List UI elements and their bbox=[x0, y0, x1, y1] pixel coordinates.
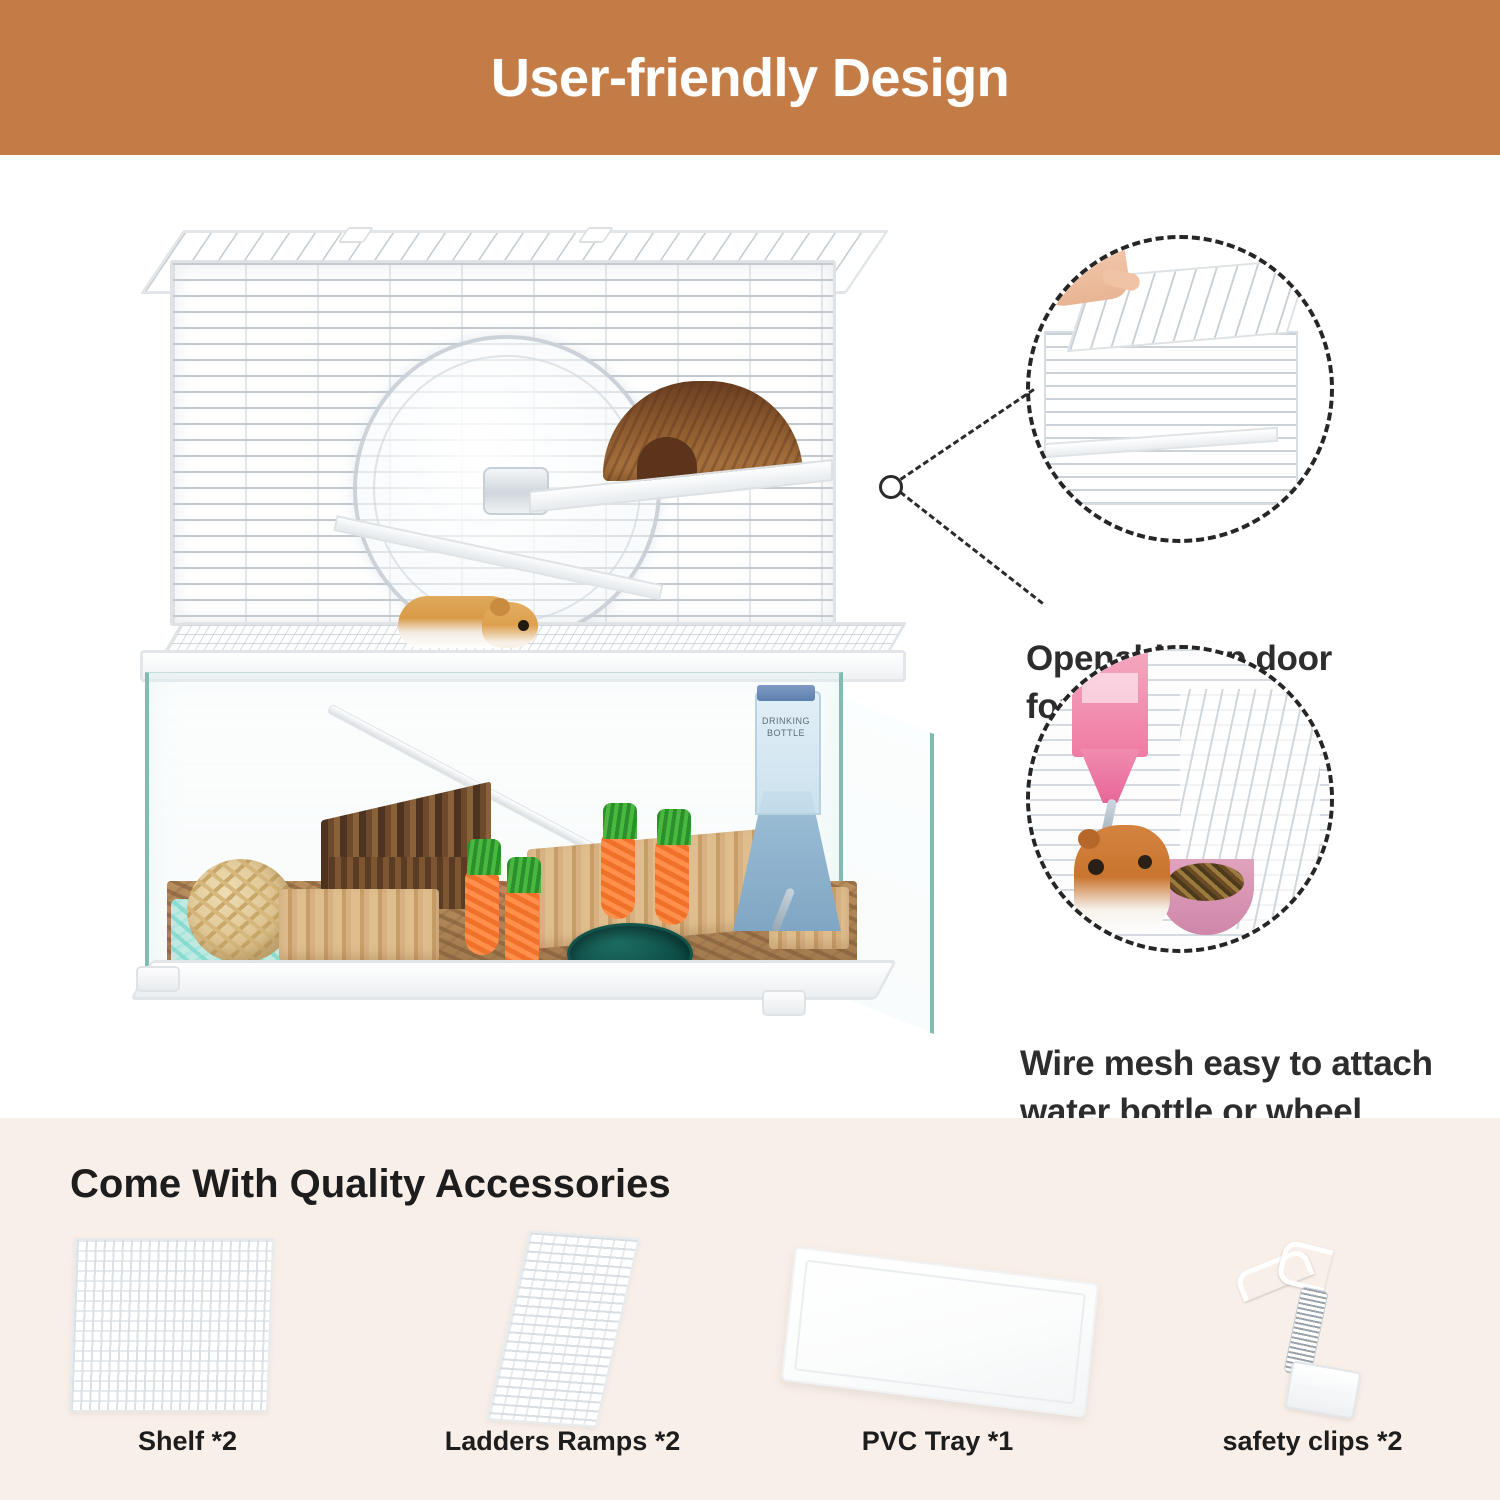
carrot-body bbox=[655, 839, 689, 925]
page-title: User-friendly Design bbox=[491, 47, 1009, 109]
product-image: DRINKING BOTTLE bbox=[120, 220, 920, 1060]
bottle-glass-body bbox=[755, 691, 821, 815]
accessory-label: Ladders Ramps *2 bbox=[375, 1426, 750, 1457]
carrot-toy bbox=[601, 833, 635, 919]
cage-wire-panel bbox=[170, 260, 836, 626]
carrot-toy bbox=[655, 839, 689, 925]
carrot-leaf bbox=[657, 809, 691, 845]
hamster-eye bbox=[1138, 855, 1152, 869]
safety-clip-icon bbox=[1230, 1236, 1400, 1422]
accessory-item-clips: safety clips *2 bbox=[1125, 1230, 1500, 1500]
carrot-toy bbox=[465, 869, 499, 955]
wire-shelf-panel-icon bbox=[69, 1238, 274, 1412]
callout-bubble-top-door bbox=[1026, 235, 1334, 543]
clip-art bbox=[1125, 1230, 1500, 1430]
tank-foot bbox=[762, 990, 806, 1016]
callout-bubble-wire-mesh bbox=[1026, 645, 1334, 953]
bottle-cap bbox=[757, 685, 815, 701]
accessory-label: safety clips *2 bbox=[1125, 1426, 1500, 1457]
lid-clip-icon bbox=[337, 227, 374, 243]
carrot-leaf bbox=[507, 857, 541, 893]
shelf-art bbox=[0, 1230, 375, 1430]
hamster-on-floor bbox=[398, 588, 538, 650]
mini-cage-body bbox=[1044, 331, 1298, 505]
tank-glass-front-panel: DRINKING BOTTLE bbox=[145, 672, 843, 973]
carrot-leaf bbox=[467, 839, 501, 875]
callout-bubble-art bbox=[1030, 649, 1330, 949]
wood-fence-left bbox=[279, 889, 439, 961]
food-mix bbox=[1168, 863, 1244, 901]
callout-line-1: Wire mesh easy to attach bbox=[1020, 1040, 1480, 1088]
callout-bubble-art bbox=[1030, 239, 1330, 539]
accessory-item-ladders: Ladders Ramps *2 bbox=[375, 1230, 750, 1500]
header-banner: User-friendly Design bbox=[0, 0, 1500, 155]
accessories-row: Shelf *2 Ladders Ramps *2 PVC Tray *1 bbox=[0, 1230, 1500, 1500]
accessories-title: Come With Quality Accessories bbox=[70, 1162, 671, 1207]
clip-jaw bbox=[1284, 1360, 1361, 1419]
hamster-eye bbox=[518, 620, 529, 631]
water-bottle: DRINKING BOTTLE bbox=[733, 691, 843, 921]
bottle-label: DRINKING BOTTLE bbox=[757, 715, 815, 751]
wire-ladder-ramp-icon bbox=[486, 1230, 640, 1427]
bottle-label-line2: BOTTLE bbox=[757, 727, 815, 739]
hamster-ear bbox=[490, 598, 510, 616]
tray-art bbox=[750, 1230, 1125, 1430]
hamster-ear bbox=[1078, 829, 1100, 849]
pink-water-bottle bbox=[1072, 649, 1148, 757]
lid-clip-icon bbox=[577, 227, 614, 243]
pvc-tray-icon bbox=[781, 1246, 1099, 1418]
infographic-page: User-friendly Design bbox=[0, 0, 1500, 1500]
bottle-label-line1: DRINKING bbox=[757, 715, 815, 727]
carrot-leaf bbox=[603, 803, 637, 839]
accessory-item-shelf: Shelf *2 bbox=[0, 1230, 375, 1500]
main-stage: DRINKING BOTTLE bbox=[0, 155, 1500, 1118]
callout-anchor-dot bbox=[879, 475, 903, 499]
hamster-eye bbox=[1088, 859, 1104, 875]
accessories-section: Come With Quality Accessories Shelf *2 L… bbox=[0, 1118, 1500, 1500]
accessory-item-tray: PVC Tray *1 bbox=[750, 1230, 1125, 1500]
tank-foot bbox=[136, 966, 180, 992]
ladder-art bbox=[375, 1230, 750, 1430]
carrot-body bbox=[601, 833, 635, 919]
carrot-body bbox=[465, 869, 499, 955]
glass-tank-lower: DRINKING BOTTLE bbox=[130, 660, 910, 1060]
accessory-label: PVC Tray *1 bbox=[750, 1426, 1125, 1457]
wire-cage-upper bbox=[140, 230, 870, 660]
accessory-label: Shelf *2 bbox=[0, 1426, 375, 1457]
